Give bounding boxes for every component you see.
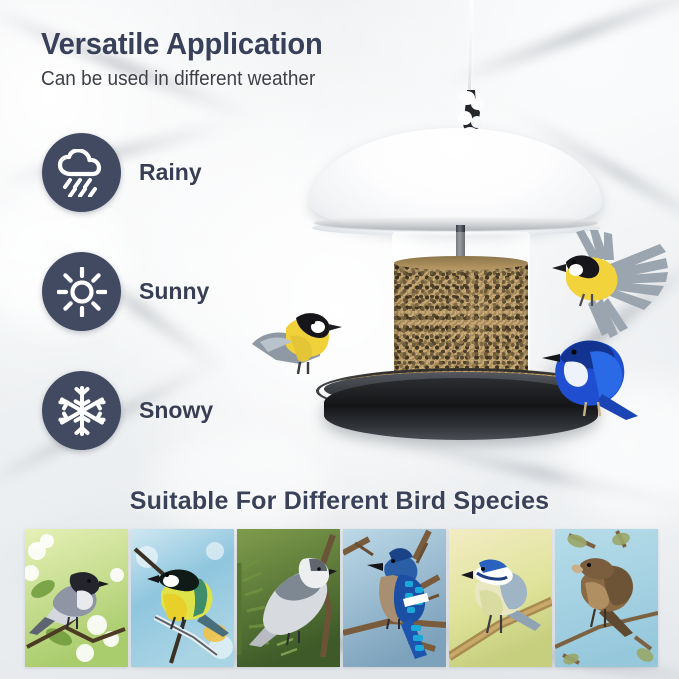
bird-great-tit-perched (250, 300, 354, 382)
feature-row-snowy: Snowy (42, 371, 213, 450)
hanging-cord (468, 0, 474, 96)
feature-label-rainy: Rainy (139, 159, 202, 186)
feature-badge-snowy (42, 371, 121, 450)
page-title: Versatile Application (41, 26, 323, 62)
species-photo-blue-tit (449, 529, 552, 667)
bird-blue-perched (530, 318, 650, 428)
species-photo-finch (555, 529, 658, 667)
species-photo-strip (25, 529, 658, 667)
species-section-heading: Suitable For Different Bird Species (0, 487, 679, 516)
feature-label-snowy: Snowy (139, 397, 213, 424)
feeder-seed-surface (394, 256, 528, 270)
page-subtitle: Can be used in different weather (41, 68, 315, 91)
feature-row-sunny: Sunny (42, 252, 209, 331)
species-photo-gray-jay (237, 529, 340, 667)
feature-row-rainy: Rainy (42, 133, 202, 212)
feature-badge-sunny (42, 252, 121, 331)
species-photo-blue-jay (343, 529, 446, 667)
species-photo-great-tit (131, 529, 234, 667)
feature-badge-rainy (42, 133, 121, 212)
sun-icon (57, 267, 107, 317)
feature-label-sunny: Sunny (139, 278, 209, 305)
rain-cloud-icon (56, 149, 108, 197)
species-photo-chickadee (25, 529, 128, 667)
snowflake-icon (57, 386, 107, 436)
